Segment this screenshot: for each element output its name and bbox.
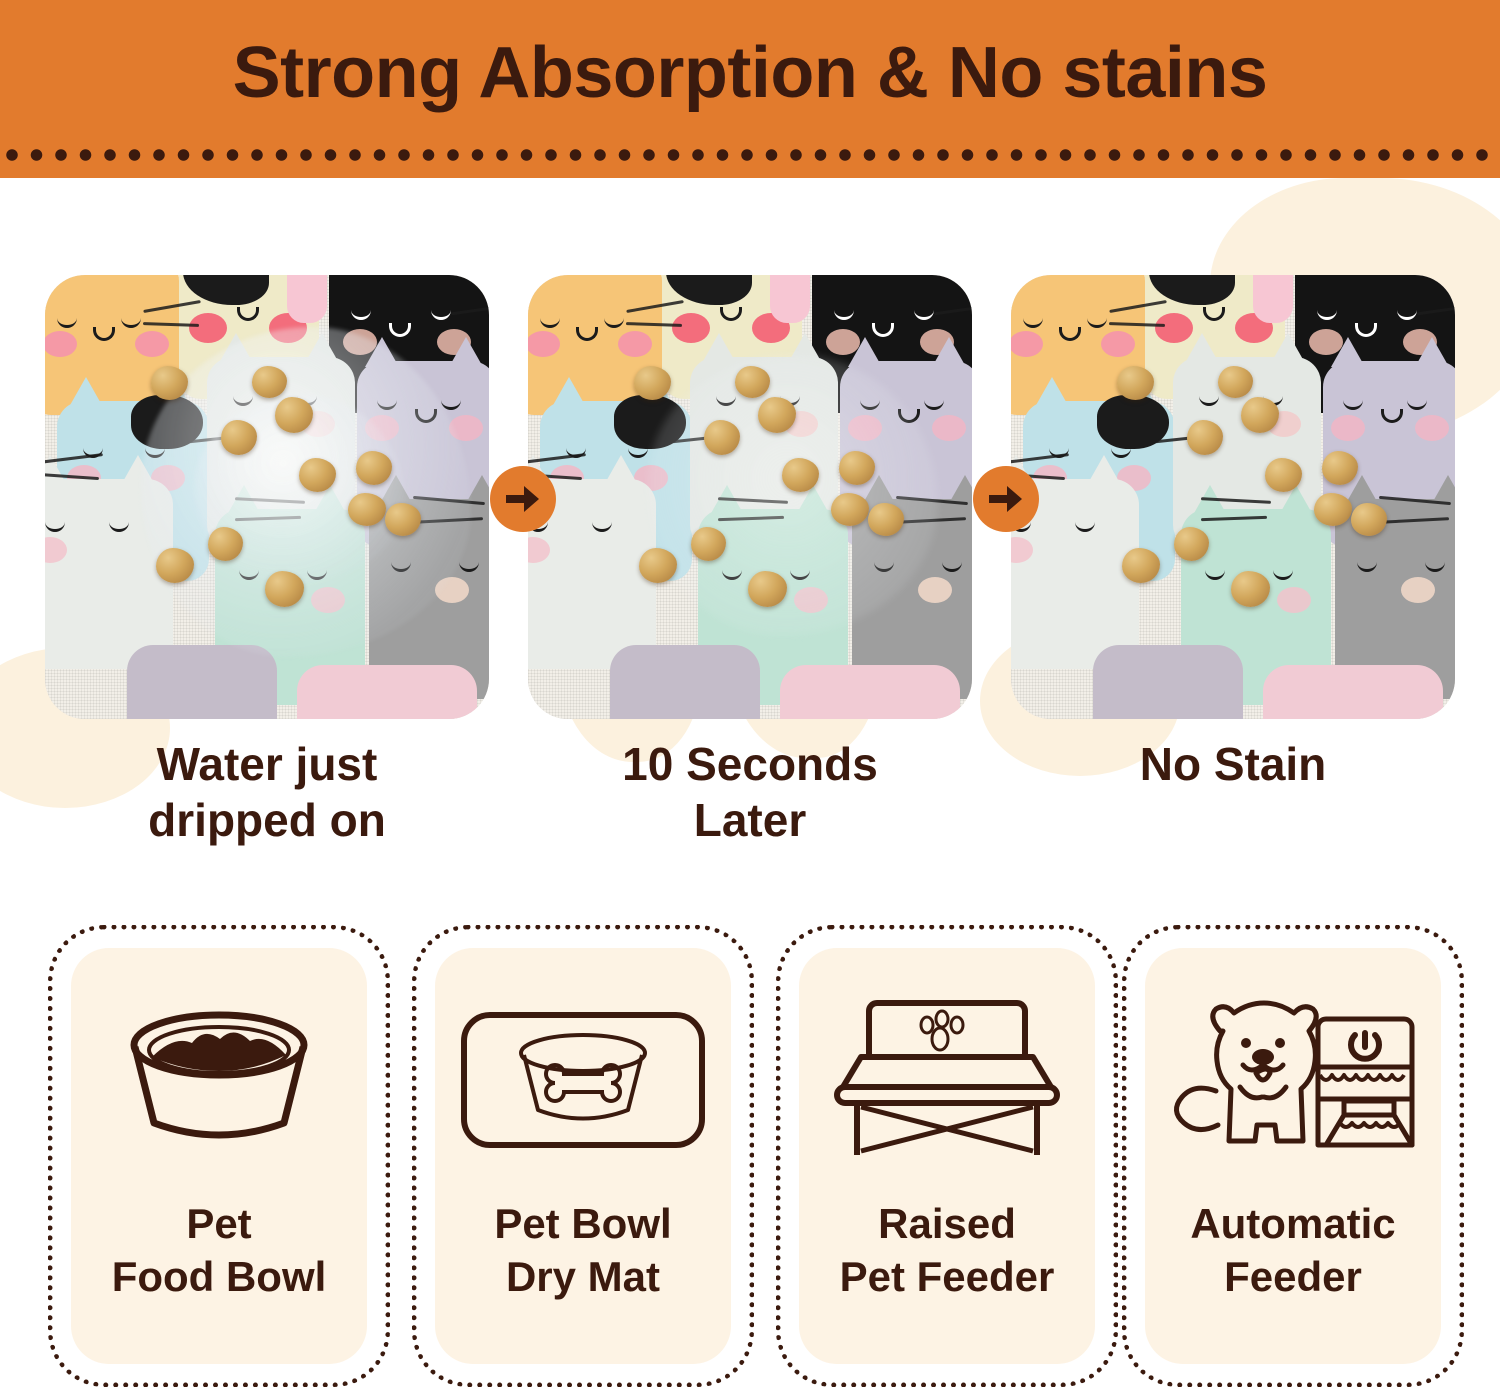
cat-cheek-icon [1101,331,1135,357]
demo-photo-step-2 [528,275,972,719]
use-case-cards: Pet Food Bowl Pet Bowl Dry Mat [0,925,1500,1393]
water-damp-area [648,355,938,635]
demo-photo-step-3 [1011,275,1455,719]
card-inner-panel: Automatic Feeder [1145,948,1441,1364]
card-label: Raised Pet Feeder [840,1198,1055,1304]
cat-ear-icon [1271,333,1305,363]
demo-caption-step-2: 10 Seconds Later [528,736,972,848]
step-arrow-1 [490,466,556,532]
demo-caption-step-3: No Stain [1011,736,1455,792]
arrow-right-icon [504,482,542,516]
header-banner: Strong Absorption & No stains [0,0,1500,178]
cat-ear-icon [1415,337,1449,367]
cat-pattern-fabric [1011,275,1455,719]
use-case-card-pet-bowl-dry-mat[interactable]: Pet Bowl Dry Mat [412,925,754,1387]
cat-motif [770,275,810,323]
cat-ear-icon [1185,333,1219,363]
use-case-card-pet-food-bowl[interactable]: Pet Food Bowl [48,925,390,1387]
cat-motif [297,665,477,719]
cat-cheek-icon [1331,415,1365,441]
demo-photo-step-1 [45,275,489,719]
automatic-feeder-icon [1145,948,1441,1198]
cat-motif [1253,275,1293,323]
cat-ear-icon [1035,377,1069,407]
cat-cheek-icon [918,577,952,603]
cat-motif [780,665,960,719]
card-inner-panel: Pet Food Bowl [71,948,367,1364]
raised-pet-feeder-icon [799,948,1095,1198]
cat-motif [1093,645,1243,719]
card-label: Automatic Feeder [1190,1198,1395,1304]
cat-cheek-icon [135,331,169,357]
header-dotted-divider [0,148,1500,162]
cat-cheek-icon [618,331,652,357]
page-title: Strong Absorption & No stains [0,32,1500,114]
cat-ear-icon [1331,337,1365,367]
cat-ear-icon [69,377,103,407]
cat-cheek-icon [932,415,966,441]
cat-ear-icon [702,333,736,363]
pet-bowl-dry-mat-icon [435,948,731,1198]
card-inner-panel: Raised Pet Feeder [799,948,1095,1364]
demo-caption-step-1: Water just dripped on [45,736,489,848]
card-inner-panel: Pet Bowl Dry Mat [435,948,731,1364]
cat-motif [287,275,327,323]
pet-food-bowl-icon [71,948,367,1198]
demo-captions: Water just dripped on 10 Seconds Later N… [0,736,1500,866]
card-label: Pet Bowl Dry Mat [494,1198,671,1304]
absorption-demo-photos [0,275,1500,719]
step-arrow-2 [973,466,1039,532]
cat-ear-icon [449,337,483,367]
card-label: Pet Food Bowl [112,1198,327,1304]
cat-ear-icon [848,337,882,367]
cat-motif [1263,665,1443,719]
cat-ear-icon [552,377,586,407]
cat-cheek-icon [1277,587,1311,613]
cat-ear-icon [1087,455,1121,485]
cat-ear-icon [932,337,966,367]
infographic-page: Strong Absorption & No stains [0,0,1500,1393]
cat-cheek-icon [1401,577,1435,603]
cat-cheek-icon [1415,415,1449,441]
cat-motif [127,645,277,719]
arrow-right-icon [987,482,1025,516]
cat-ear-icon [604,455,638,485]
cat-motif [610,645,760,719]
use-case-card-raised-pet-feeder[interactable]: Raised Pet Feeder [776,925,1118,1387]
use-case-card-automatic-feeder[interactable]: Automatic Feeder [1122,925,1464,1387]
